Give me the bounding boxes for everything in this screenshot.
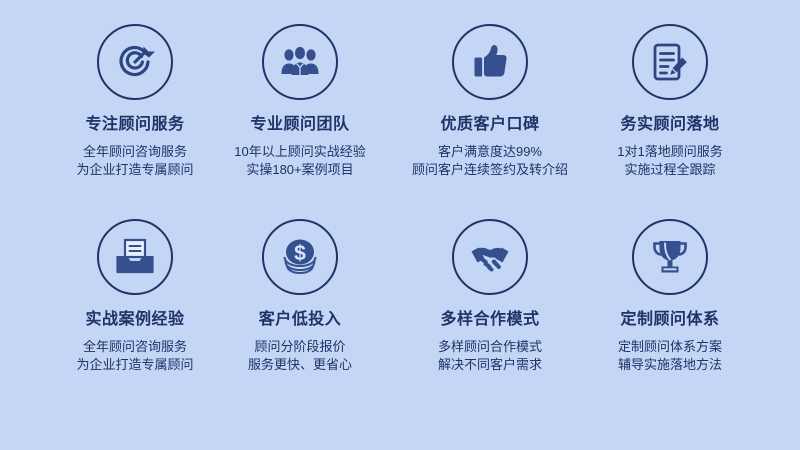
team-people-icon bbox=[278, 40, 322, 84]
feature-line: 定制顾问体系方案 bbox=[618, 338, 722, 357]
feature-line: 为企业打造专属顾问 bbox=[76, 356, 193, 375]
feature-line: 实操180+案例项目 bbox=[234, 161, 365, 180]
svg-text:$: $ bbox=[294, 242, 306, 265]
feature-line: 10年以上顾问实战经验 bbox=[234, 143, 365, 162]
inbox-document-icon bbox=[113, 235, 157, 279]
icon-ring bbox=[452, 219, 528, 295]
icon-ring bbox=[262, 24, 338, 100]
icon-ring: $ bbox=[262, 219, 338, 295]
feature-line: 为企业打造专属顾问 bbox=[76, 161, 193, 180]
thumbs-up-icon bbox=[468, 40, 512, 84]
feature-title: 专注顾问服务 bbox=[85, 116, 184, 134]
feature-lines: 全年顾问咨询服务 为企业打造专属顾问 bbox=[76, 143, 193, 181]
feature-line: 客户满意度达99% bbox=[412, 143, 568, 162]
feature-line: 实施过程全跟踪 bbox=[617, 161, 722, 180]
feature-line: 顾问客户连续签约及转介绍 bbox=[412, 161, 568, 180]
feature-line: 全年顾问咨询服务 bbox=[76, 338, 193, 357]
feature-title: 客户低投入 bbox=[259, 311, 342, 329]
feature-card-cooperation[interactable]: 多样合作模式 多样顾问合作模式 解决不同客户需求 bbox=[390, 219, 590, 414]
icon-ring bbox=[97, 219, 173, 295]
icon-ring bbox=[632, 24, 708, 100]
document-pencil-icon bbox=[648, 40, 692, 84]
feature-line: 顾问分阶段报价 bbox=[248, 338, 352, 357]
feature-line: 多样顾问合作模式 bbox=[438, 338, 542, 357]
feature-card-team[interactable]: 专业顾问团队 10年以上顾问实战经验 实操180+案例项目 bbox=[200, 24, 400, 219]
feature-card-low-cost[interactable]: $ 客户低投入 顾问分阶段报价 服务更快、更省心 bbox=[200, 219, 400, 414]
feature-lines: 全年顾问咨询服务 为企业打造专属顾问 bbox=[76, 338, 193, 376]
trophy-icon bbox=[648, 235, 692, 279]
feature-title: 专业顾问团队 bbox=[250, 116, 349, 134]
feature-grid: 专注顾问服务 全年顾问咨询服务 为企业打造专属顾问 bbox=[0, 24, 800, 414]
icon-ring bbox=[452, 24, 528, 100]
feature-lines: 1对1落地顾问服务 实施过程全跟踪 bbox=[617, 143, 722, 181]
feature-title: 务实顾问落地 bbox=[620, 116, 719, 134]
icon-ring bbox=[632, 219, 708, 295]
feature-line: 辅导实施落地方法 bbox=[618, 356, 722, 375]
feature-card-implementation[interactable]: 务实顾问落地 1对1落地顾问服务 实施过程全跟踪 bbox=[570, 24, 770, 219]
feature-card-custom-system[interactable]: 定制顾问体系 定制顾问体系方案 辅导实施落地方法 bbox=[570, 219, 770, 414]
feature-line: 1对1落地顾问服务 bbox=[617, 143, 722, 162]
handshake-icon bbox=[468, 235, 512, 279]
feature-lines: 定制顾问体系方案 辅导实施落地方法 bbox=[618, 338, 722, 376]
feature-lines: 顾问分阶段报价 服务更快、更省心 bbox=[248, 338, 352, 376]
feature-lines: 10年以上顾问实战经验 实操180+案例项目 bbox=[234, 143, 365, 181]
icon-ring bbox=[97, 24, 173, 100]
feature-lines: 客户满意度达99% 顾问客户连续签约及转介绍 bbox=[412, 143, 568, 181]
feature-board: 专注顾问服务 全年顾问咨询服务 为企业打造专属顾问 bbox=[0, 0, 800, 450]
target-arrow-icon bbox=[113, 40, 157, 84]
feature-title: 定制顾问体系 bbox=[620, 311, 719, 329]
feature-lines: 多样顾问合作模式 解决不同客户需求 bbox=[438, 338, 542, 376]
feature-title: 多样合作模式 bbox=[440, 311, 539, 329]
feature-line: 全年顾问咨询服务 bbox=[76, 143, 193, 162]
coins-dollar-icon: $ bbox=[278, 235, 322, 279]
feature-card-reputation[interactable]: 优质客户口碑 客户满意度达99% 顾问客户连续签约及转介绍 bbox=[390, 24, 590, 219]
feature-title: 实战案例经验 bbox=[85, 311, 184, 329]
feature-line: 解决不同客户需求 bbox=[438, 356, 542, 375]
feature-title: 优质客户口碑 bbox=[440, 116, 539, 134]
feature-line: 服务更快、更省心 bbox=[248, 356, 352, 375]
